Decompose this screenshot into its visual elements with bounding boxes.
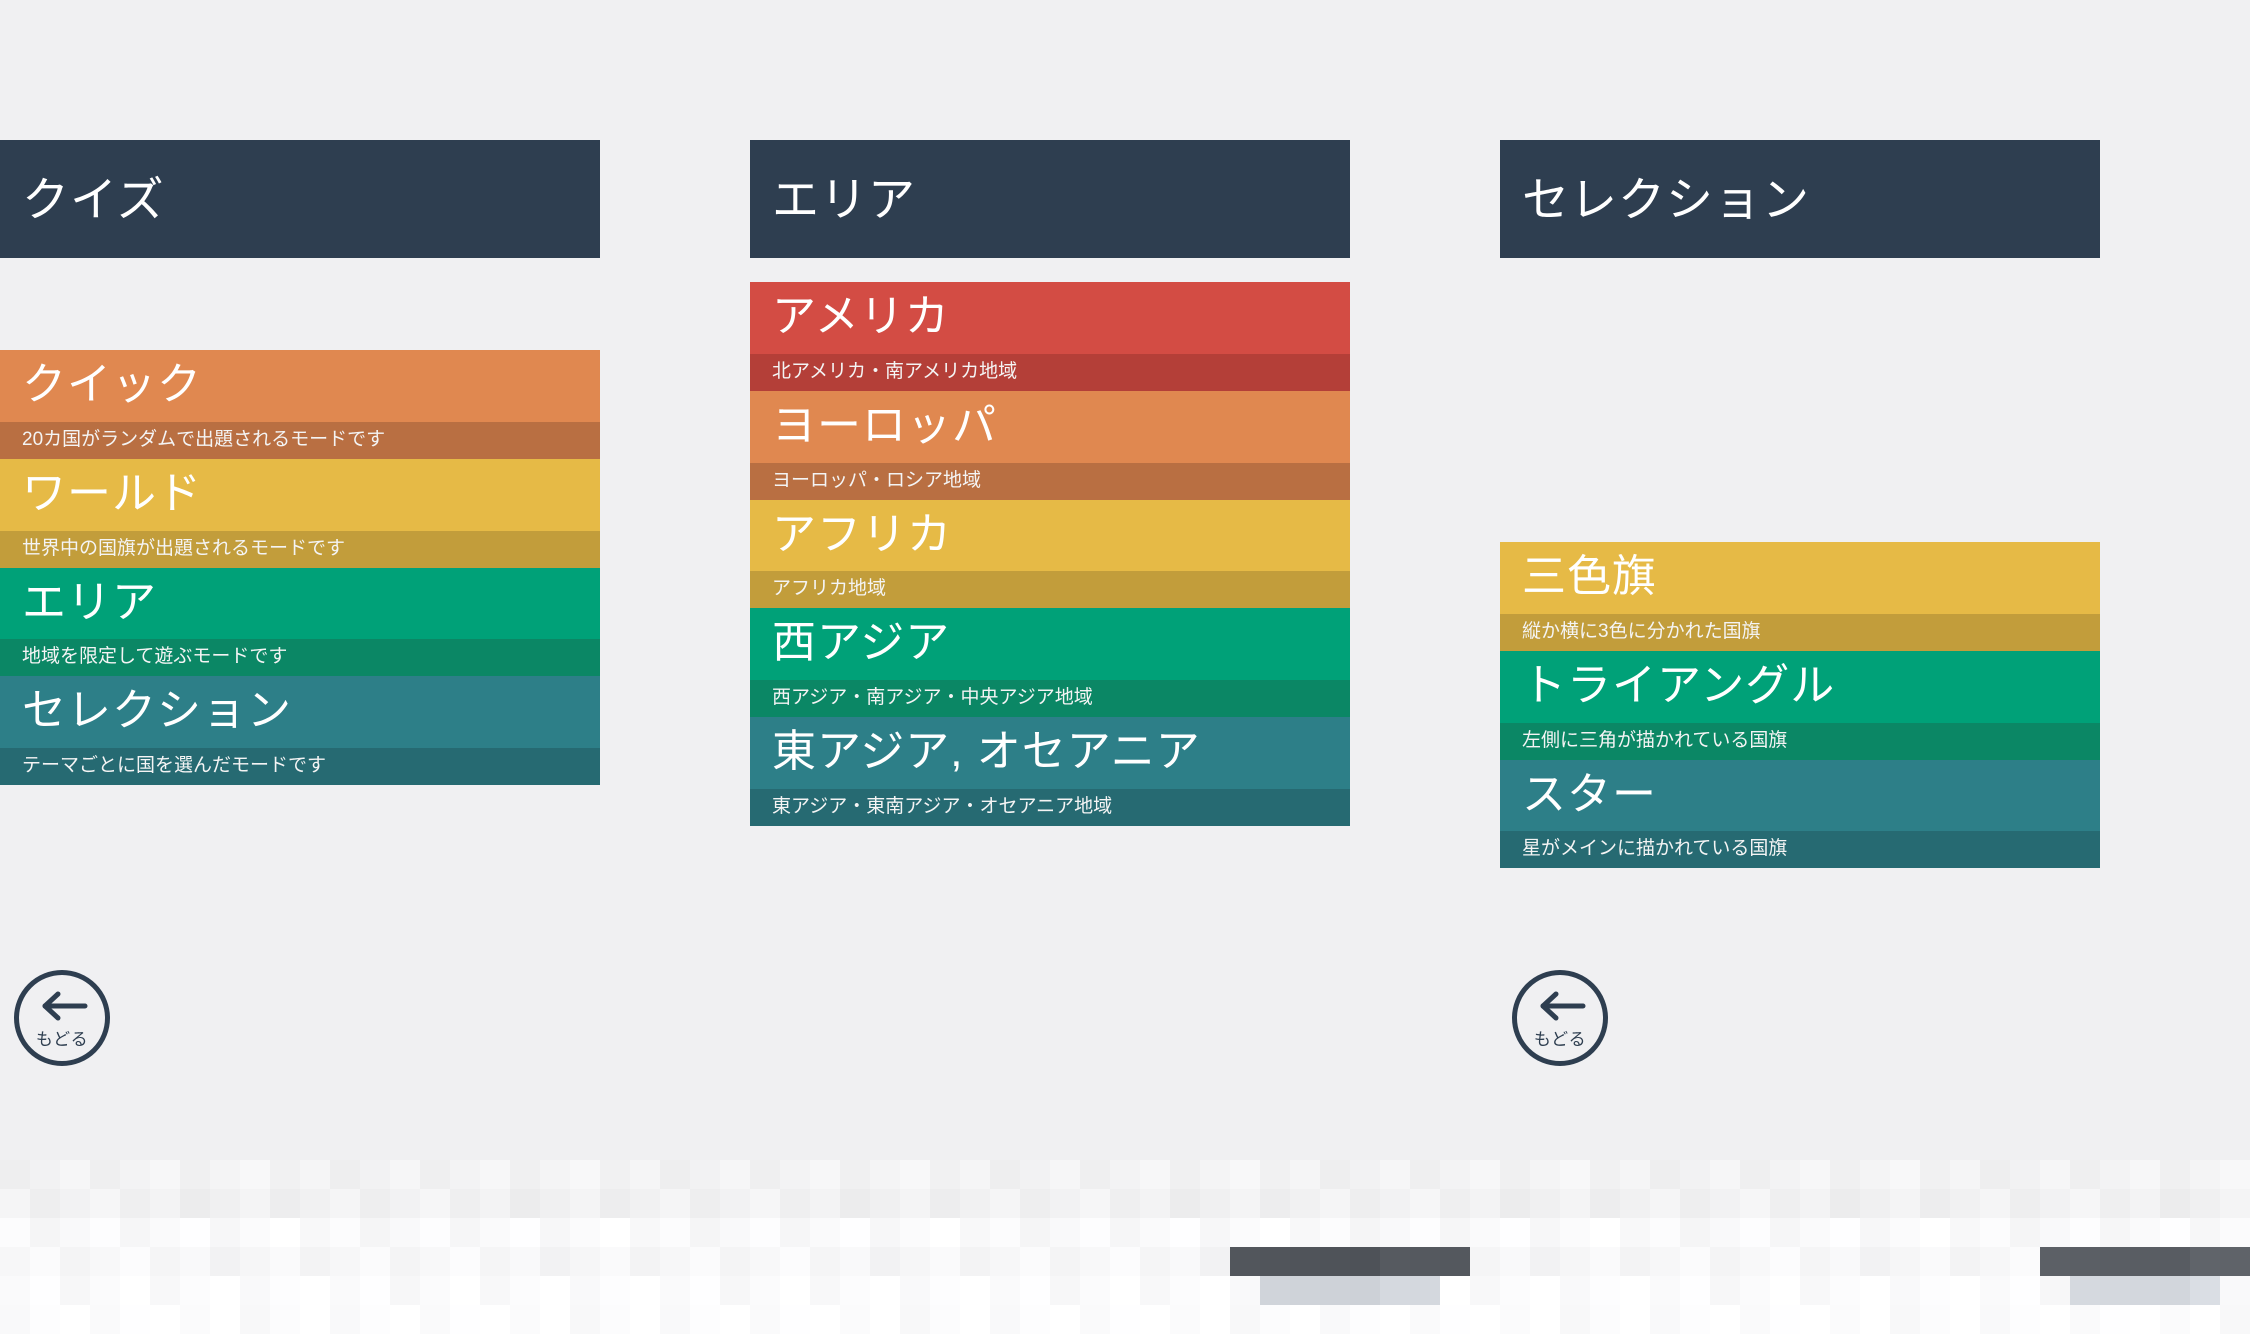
blur-cell bbox=[1470, 1276, 1500, 1305]
blur-cell bbox=[450, 1276, 480, 1305]
blur-cell bbox=[840, 1189, 870, 1218]
blur-cell bbox=[600, 1276, 630, 1305]
blur-cell bbox=[1080, 1276, 1110, 1305]
blur-cell bbox=[720, 1305, 750, 1334]
blur-cell bbox=[1800, 1160, 1830, 1189]
blur-cell bbox=[1080, 1160, 1110, 1189]
blur-cell bbox=[1440, 1189, 1470, 1218]
blur-cell bbox=[2070, 1247, 2100, 1276]
blur-cell bbox=[1470, 1218, 1500, 1247]
blur-cell bbox=[1050, 1247, 1080, 1276]
blur-cell bbox=[1410, 1247, 1440, 1276]
blur-cell bbox=[300, 1189, 330, 1218]
menu-item-title: トライアングル bbox=[1500, 651, 2100, 723]
menu-item-tricolor[interactable]: 三色旗 縦か横に3色に分かれた国旗 bbox=[1500, 542, 2100, 651]
blur-cell bbox=[810, 1247, 840, 1276]
blur-cell bbox=[2100, 1189, 2130, 1218]
blur-cell bbox=[480, 1160, 510, 1189]
blur-cell bbox=[2010, 1160, 2040, 1189]
blur-cell bbox=[780, 1276, 810, 1305]
blur-cell bbox=[420, 1189, 450, 1218]
blur-cell bbox=[360, 1160, 390, 1189]
blur-cell bbox=[1710, 1189, 1740, 1218]
blur-cell bbox=[1740, 1247, 1770, 1276]
blur-cell bbox=[1530, 1218, 1560, 1247]
menu-item-title: 西アジア bbox=[750, 608, 1350, 680]
blur-cell bbox=[1590, 1276, 1620, 1305]
blur-cell bbox=[1260, 1160, 1290, 1189]
blur-cell bbox=[90, 1160, 120, 1189]
blur-cell bbox=[390, 1247, 420, 1276]
blur-cell bbox=[870, 1276, 900, 1305]
blur-cell bbox=[1020, 1276, 1050, 1305]
blur-cell bbox=[870, 1189, 900, 1218]
menu-item-subtitle: アフリカ地域 bbox=[750, 571, 1350, 608]
blur-cell bbox=[2160, 1276, 2190, 1305]
menu-item-west-asia[interactable]: 西アジア 西アジア・南アジア・中央アジア地域 bbox=[750, 608, 1350, 717]
blur-cell bbox=[1170, 1276, 1200, 1305]
blur-cell bbox=[1620, 1247, 1650, 1276]
blur-cell bbox=[2070, 1218, 2100, 1247]
blur-cell bbox=[990, 1218, 1020, 1247]
blur-cell bbox=[30, 1276, 60, 1305]
blur-cell bbox=[210, 1305, 240, 1334]
blur-cell bbox=[1530, 1247, 1560, 1276]
blur-cell bbox=[1200, 1276, 1230, 1305]
menu-item-subtitle: 世界中の国旗が出題されるモードです bbox=[0, 531, 600, 568]
blur-cell bbox=[360, 1247, 390, 1276]
menu-item-subtitle: ヨーロッパ・ロシア地域 bbox=[750, 463, 1350, 500]
menu-item-title: セレクション bbox=[0, 676, 600, 748]
area-list: アメリカ 北アメリカ・南アメリカ地域 ヨーロッパ ヨーロッパ・ロシア地域 アフリ… bbox=[750, 282, 1350, 826]
blur-cell bbox=[1830, 1276, 1860, 1305]
blur-cell bbox=[30, 1305, 60, 1334]
blur-cell bbox=[1560, 1247, 1590, 1276]
back-button[interactable]: もどる bbox=[14, 970, 110, 1066]
blur-cell bbox=[420, 1218, 450, 1247]
blur-cell bbox=[120, 1218, 150, 1247]
blur-cell bbox=[1890, 1305, 1920, 1334]
blur-cell bbox=[930, 1276, 960, 1305]
blur-cell bbox=[630, 1305, 660, 1334]
blur-cell bbox=[1170, 1189, 1200, 1218]
blur-cell bbox=[240, 1160, 270, 1189]
blur-cell bbox=[90, 1247, 120, 1276]
blur-cell bbox=[1530, 1160, 1560, 1189]
blur-cell bbox=[1590, 1218, 1620, 1247]
blur-cell bbox=[360, 1276, 390, 1305]
blur-cell bbox=[1860, 1189, 1890, 1218]
blur-cell bbox=[1200, 1218, 1230, 1247]
blur-cell bbox=[540, 1218, 570, 1247]
blur-cell bbox=[0, 1218, 30, 1247]
blur-cell bbox=[180, 1189, 210, 1218]
blur-cell bbox=[1440, 1160, 1470, 1189]
blur-cell bbox=[1320, 1189, 1350, 1218]
blur-cell bbox=[780, 1160, 810, 1189]
blur-cell bbox=[1290, 1189, 1320, 1218]
blur-cell bbox=[60, 1247, 90, 1276]
menu-item-star[interactable]: スター 星がメインに描かれている国旗 bbox=[1500, 760, 2100, 869]
blur-cell bbox=[2100, 1247, 2130, 1276]
blur-cell bbox=[240, 1276, 270, 1305]
menu-item-world[interactable]: ワールド 世界中の国旗が出題されるモードです bbox=[0, 459, 600, 568]
blur-cell bbox=[1770, 1276, 1800, 1305]
blur-cell bbox=[1350, 1160, 1380, 1189]
blur-cell bbox=[1050, 1218, 1080, 1247]
blur-cell bbox=[1080, 1305, 1110, 1334]
menu-item-title: ヨーロッパ bbox=[750, 391, 1350, 463]
blur-cell bbox=[1320, 1247, 1350, 1276]
blur-cell bbox=[990, 1160, 1020, 1189]
blur-cell bbox=[510, 1160, 540, 1189]
blur-cell bbox=[1440, 1247, 1470, 1276]
blur-cell bbox=[1830, 1189, 1860, 1218]
blur-cell bbox=[750, 1160, 780, 1189]
blur-cell bbox=[2010, 1189, 2040, 1218]
blur-cell bbox=[1800, 1218, 1830, 1247]
blur-cell bbox=[0, 1189, 30, 1218]
blur-cell bbox=[1170, 1218, 1200, 1247]
blur-cell bbox=[1050, 1305, 1080, 1334]
blur-cell bbox=[960, 1189, 990, 1218]
blur-cell bbox=[1620, 1276, 1650, 1305]
blur-cell bbox=[0, 1305, 30, 1334]
menu-item-title: ワールド bbox=[0, 459, 600, 531]
blur-cell bbox=[2160, 1160, 2190, 1189]
blur-cell bbox=[810, 1189, 840, 1218]
blur-cell bbox=[480, 1247, 510, 1276]
blur-cell bbox=[510, 1276, 540, 1305]
blur-cell bbox=[660, 1160, 690, 1189]
blur-cell bbox=[1710, 1160, 1740, 1189]
blur-cell bbox=[1140, 1218, 1170, 1247]
blur-cell bbox=[780, 1305, 810, 1334]
blur-cell bbox=[1200, 1247, 1230, 1276]
blur-cell bbox=[540, 1189, 570, 1218]
back-button-label: もどる bbox=[36, 1031, 88, 1048]
blur-cell bbox=[630, 1218, 660, 1247]
blur-cell bbox=[690, 1247, 720, 1276]
panel-selection-header: セレクション bbox=[1500, 140, 2100, 258]
blur-cell bbox=[720, 1160, 750, 1189]
menu-item-triangle[interactable]: トライアングル 左側に三角が描かれている国旗 bbox=[1500, 651, 2100, 760]
blur-cell bbox=[120, 1247, 150, 1276]
blur-cell bbox=[2010, 1305, 2040, 1334]
blur-cell bbox=[2190, 1247, 2220, 1276]
blur-cell bbox=[1350, 1305, 1380, 1334]
blur-cell bbox=[2160, 1305, 2190, 1334]
blur-cell bbox=[1980, 1218, 2010, 1247]
menu-item-east-asia-oceania[interactable]: 東アジア, オセアニア 東アジア・東南アジア・オセアニア地域 bbox=[750, 717, 1350, 826]
blur-cell bbox=[270, 1218, 300, 1247]
blur-cell bbox=[1770, 1305, 1800, 1334]
panel-area-header: エリア bbox=[750, 140, 1350, 258]
blur-cell bbox=[120, 1305, 150, 1334]
blur-cell bbox=[1680, 1160, 1710, 1189]
blur-cell bbox=[750, 1247, 780, 1276]
blur-cell bbox=[1230, 1276, 1260, 1305]
page-title: セレクション bbox=[1500, 176, 1810, 223]
blur-cell bbox=[1530, 1189, 1560, 1218]
blur-cell bbox=[1020, 1189, 1050, 1218]
blur-cell bbox=[1860, 1160, 1890, 1189]
blur-cell bbox=[1770, 1160, 1800, 1189]
blur-cell bbox=[1680, 1305, 1710, 1334]
blur-cell bbox=[2070, 1160, 2100, 1189]
blur-cell bbox=[1620, 1189, 1650, 1218]
blur-cell bbox=[1560, 1218, 1590, 1247]
menu-item-quick[interactable]: クイック 20カ国がランダムで出題されるモードです bbox=[0, 350, 600, 459]
menu-item-europe[interactable]: ヨーロッパ ヨーロッパ・ロシア地域 bbox=[750, 391, 1350, 500]
blur-cell bbox=[1740, 1276, 1770, 1305]
blur-cell bbox=[510, 1247, 540, 1276]
blur-cell bbox=[1800, 1247, 1830, 1276]
blur-cell bbox=[720, 1189, 750, 1218]
blur-cell bbox=[240, 1305, 270, 1334]
blur-cell bbox=[450, 1160, 480, 1189]
blur-cell bbox=[720, 1218, 750, 1247]
blur-cell bbox=[2220, 1160, 2250, 1189]
blur-cell bbox=[960, 1276, 990, 1305]
blur-cell bbox=[1500, 1276, 1530, 1305]
blur-cell bbox=[1050, 1189, 1080, 1218]
blur-cell bbox=[2010, 1218, 2040, 1247]
blur-cell bbox=[150, 1218, 180, 1247]
blur-cell bbox=[540, 1247, 570, 1276]
blur-cell bbox=[1230, 1160, 1260, 1189]
blur-cell bbox=[1290, 1218, 1320, 1247]
blur-cell bbox=[2160, 1218, 2190, 1247]
blur-cell bbox=[1980, 1189, 2010, 1218]
blur-cell bbox=[840, 1218, 870, 1247]
blur-cell bbox=[1770, 1218, 1800, 1247]
blur-cell bbox=[1470, 1189, 1500, 1218]
blur-cell bbox=[1830, 1160, 1860, 1189]
blur-cell bbox=[60, 1160, 90, 1189]
blur-cell bbox=[300, 1160, 330, 1189]
blur-cell bbox=[1710, 1247, 1740, 1276]
blur-cell bbox=[2220, 1189, 2250, 1218]
blur-cell bbox=[990, 1305, 1020, 1334]
blur-cell bbox=[2220, 1276, 2250, 1305]
blur-cell bbox=[1320, 1276, 1350, 1305]
blur-cell bbox=[2070, 1305, 2100, 1334]
blur-cell bbox=[270, 1160, 300, 1189]
blur-cell bbox=[180, 1247, 210, 1276]
blur-cell bbox=[2130, 1276, 2160, 1305]
blur-cell bbox=[1020, 1247, 1050, 1276]
blur-cell bbox=[1590, 1247, 1620, 1276]
menu-item-africa[interactable]: アフリカ アフリカ地域 bbox=[750, 500, 1350, 609]
blur-cell bbox=[1950, 1305, 1980, 1334]
blur-cell bbox=[1410, 1160, 1440, 1189]
blur-cell bbox=[360, 1218, 390, 1247]
blur-cell bbox=[1020, 1160, 1050, 1189]
blur-cell bbox=[1380, 1305, 1410, 1334]
blur-cell bbox=[0, 1276, 30, 1305]
blur-cell bbox=[2190, 1305, 2220, 1334]
blur-cell bbox=[1200, 1305, 1230, 1334]
blur-cell bbox=[780, 1247, 810, 1276]
blur-cell bbox=[2190, 1218, 2220, 1247]
blur-cell bbox=[1320, 1160, 1350, 1189]
blur-cell bbox=[630, 1247, 660, 1276]
blur-cell bbox=[240, 1189, 270, 1218]
blur-cell bbox=[840, 1305, 870, 1334]
blur-cell bbox=[2040, 1247, 2070, 1276]
blur-cell bbox=[300, 1276, 330, 1305]
blur-cell bbox=[1140, 1160, 1170, 1189]
menu-item-subtitle: 西アジア・南アジア・中央アジア地域 bbox=[750, 680, 1350, 717]
blur-cell bbox=[1860, 1305, 1890, 1334]
blur-cell bbox=[2100, 1160, 2130, 1189]
blur-cell bbox=[1770, 1189, 1800, 1218]
blur-cell bbox=[1680, 1189, 1710, 1218]
blur-cell bbox=[510, 1218, 540, 1247]
blur-cell bbox=[1920, 1276, 1950, 1305]
blur-cell bbox=[1890, 1218, 1920, 1247]
blur-cell bbox=[0, 1160, 30, 1189]
blur-cell bbox=[1500, 1218, 1530, 1247]
blur-cell bbox=[390, 1160, 420, 1189]
blur-cell bbox=[600, 1189, 630, 1218]
blur-cell bbox=[330, 1276, 360, 1305]
blur-cell bbox=[1800, 1189, 1830, 1218]
blur-cell bbox=[2100, 1276, 2130, 1305]
menu-item-title: 東アジア, オセアニア bbox=[750, 717, 1350, 789]
blur-cell bbox=[2160, 1189, 2190, 1218]
blur-cell bbox=[660, 1218, 690, 1247]
blur-cell bbox=[1290, 1247, 1320, 1276]
blur-cell bbox=[1410, 1305, 1440, 1334]
blur-cell bbox=[450, 1305, 480, 1334]
blur-cell bbox=[1230, 1189, 1260, 1218]
blur-cell bbox=[870, 1247, 900, 1276]
blur-cell bbox=[1140, 1247, 1170, 1276]
blur-cell bbox=[240, 1218, 270, 1247]
blur-cell bbox=[1950, 1247, 1980, 1276]
blur-cell bbox=[750, 1189, 780, 1218]
blur-cell bbox=[300, 1218, 330, 1247]
blur-cell bbox=[1860, 1276, 1890, 1305]
blur-cell bbox=[1890, 1247, 1920, 1276]
blur-cell bbox=[690, 1305, 720, 1334]
blur-cell bbox=[600, 1247, 630, 1276]
blur-cell bbox=[600, 1305, 630, 1334]
blur-cell bbox=[930, 1160, 960, 1189]
blur-cell bbox=[1290, 1305, 1320, 1334]
blur-cell bbox=[2100, 1305, 2130, 1334]
blur-cell bbox=[90, 1189, 120, 1218]
blur-cell bbox=[1830, 1305, 1860, 1334]
blur-cell bbox=[1590, 1160, 1620, 1189]
blur-cell bbox=[540, 1305, 570, 1334]
blur-cell bbox=[30, 1160, 60, 1189]
blur-cell bbox=[1590, 1189, 1620, 1218]
blur-cell bbox=[1380, 1276, 1410, 1305]
blur-cell bbox=[1650, 1276, 1680, 1305]
blur-cell bbox=[2130, 1247, 2160, 1276]
blur-cell bbox=[1380, 1218, 1410, 1247]
blur-cell bbox=[1380, 1247, 1410, 1276]
blur-cell bbox=[1740, 1160, 1770, 1189]
blur-cell bbox=[510, 1305, 540, 1334]
blur-cell bbox=[750, 1218, 780, 1247]
blur-cell bbox=[570, 1218, 600, 1247]
blur-cell bbox=[180, 1276, 210, 1305]
blur-cell bbox=[450, 1189, 480, 1218]
blur-cell bbox=[1710, 1276, 1740, 1305]
blur-cell bbox=[330, 1160, 360, 1189]
blur-cell bbox=[1200, 1189, 1230, 1218]
blur-cell bbox=[840, 1276, 870, 1305]
blur-cell bbox=[1050, 1276, 1080, 1305]
blur-cell bbox=[810, 1305, 840, 1334]
blur-cell bbox=[1110, 1218, 1140, 1247]
blur-cell bbox=[450, 1247, 480, 1276]
menu-item-america[interactable]: アメリカ 北アメリカ・南アメリカ地域 bbox=[750, 282, 1350, 391]
blur-cell bbox=[780, 1189, 810, 1218]
blur-cell bbox=[1680, 1218, 1710, 1247]
blur-cell bbox=[1920, 1160, 1950, 1189]
blur-cell bbox=[1110, 1276, 1140, 1305]
blur-cell bbox=[90, 1218, 120, 1247]
blur-cell bbox=[1140, 1276, 1170, 1305]
blur-cell bbox=[570, 1305, 600, 1334]
blur-cell bbox=[180, 1160, 210, 1189]
blur-cell bbox=[390, 1189, 420, 1218]
panel-quiz: クイズ クイック 20カ国がランダムで出題されるモードです ワールド 世界中の国… bbox=[0, 0, 600, 1160]
menu-item-title: アメリカ bbox=[750, 282, 1350, 354]
blur-cell bbox=[1080, 1189, 1110, 1218]
quiz-mode-list: クイック 20カ国がランダムで出題されるモードです ワールド 世界中の国旗が出題… bbox=[0, 350, 600, 785]
blur-cell bbox=[1920, 1305, 1950, 1334]
blur-cell bbox=[150, 1247, 180, 1276]
blur-cell bbox=[1260, 1189, 1290, 1218]
blur-cell bbox=[1320, 1218, 1350, 1247]
blur-cell bbox=[1920, 1247, 1950, 1276]
blur-cell bbox=[2040, 1189, 2070, 1218]
blur-cell bbox=[660, 1247, 690, 1276]
blur-cell bbox=[2130, 1218, 2160, 1247]
blur-cell bbox=[300, 1305, 330, 1334]
blur-cell bbox=[420, 1276, 450, 1305]
blur-cell bbox=[1680, 1276, 1710, 1305]
blur-cell bbox=[540, 1160, 570, 1189]
blur-cell bbox=[1170, 1247, 1200, 1276]
blur-cell bbox=[240, 1247, 270, 1276]
blur-cell bbox=[60, 1305, 90, 1334]
blur-cell bbox=[1470, 1160, 1500, 1189]
blur-cell bbox=[1440, 1218, 1470, 1247]
menu-item-selection[interactable]: セレクション テーマごとに国を選んだモードです bbox=[0, 676, 600, 785]
panel-area: エリア アメリカ 北アメリカ・南アメリカ地域 ヨーロッパ ヨーロッパ・ロシア地域… bbox=[750, 0, 1350, 1160]
blur-cell bbox=[1620, 1160, 1650, 1189]
blur-cell bbox=[1410, 1189, 1440, 1218]
menu-item-title: 三色旗 bbox=[1500, 542, 2100, 614]
blur-cell bbox=[1410, 1218, 1440, 1247]
menu-item-title: クイック bbox=[0, 350, 600, 422]
blur-cell bbox=[1380, 1160, 1410, 1189]
blur-cell bbox=[570, 1189, 600, 1218]
blur-cell bbox=[60, 1276, 90, 1305]
app-root: クイズ クイック 20カ国がランダムで出題されるモードです ワールド 世界中の国… bbox=[0, 0, 2250, 1334]
blur-cell bbox=[930, 1305, 960, 1334]
blur-cell bbox=[960, 1305, 990, 1334]
blur-cell bbox=[90, 1276, 120, 1305]
menu-item-area[interactable]: エリア 地域を限定して遊ぶモードです bbox=[0, 568, 600, 677]
